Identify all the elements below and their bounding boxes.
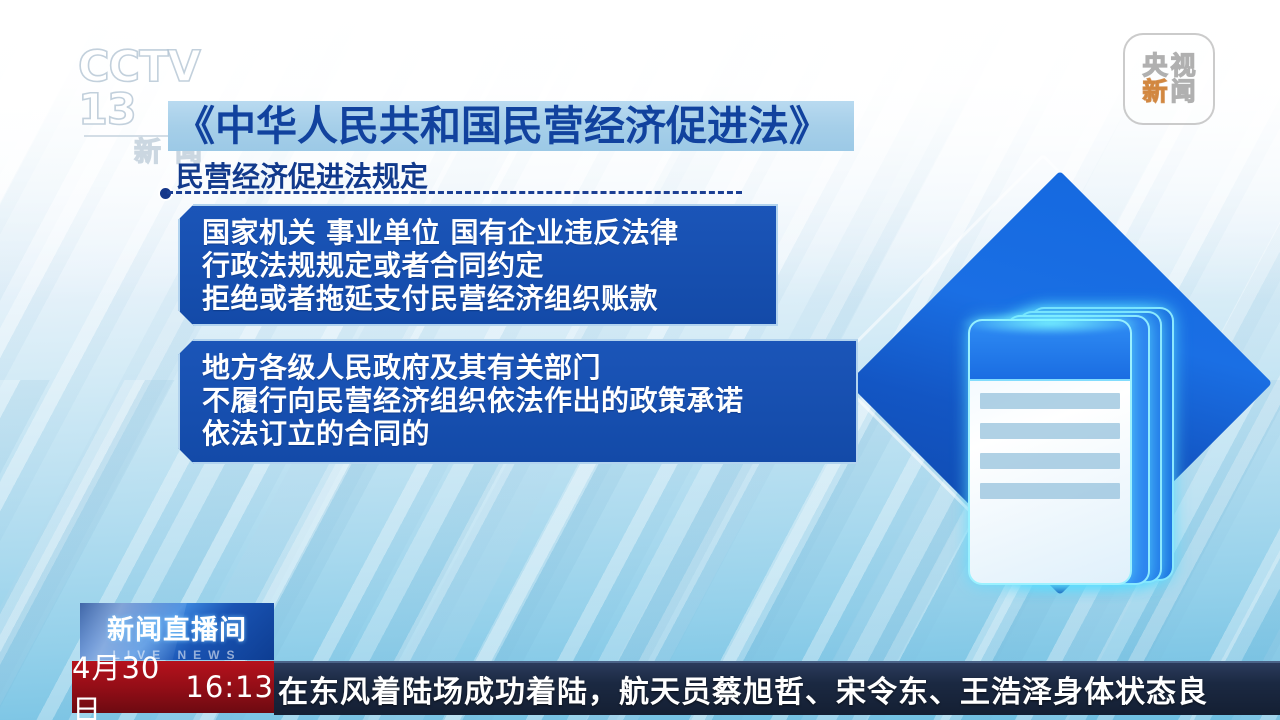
- broadcast-frame: CCTV 13 新闻 央 视 新 闻: [0, 0, 1280, 720]
- statement-block-1: 国家机关 事业单位 国有企业违反法律 行政法规规定或者合同约定 拒绝或者拖延支付…: [178, 204, 778, 326]
- program-name: 新闻直播间: [80, 608, 274, 647]
- document-diamond-graphic: [880, 215, 1280, 645]
- document-line: [980, 423, 1120, 439]
- document-text-lines: [970, 381, 1130, 499]
- news-ticker: 在东风着陆场成功着陆，航天员蔡旭哲、宋令东、王浩泽身体状态良: [274, 661, 1280, 715]
- page-title: 《中华人民共和国民营经济促进法》: [174, 97, 874, 155]
- broadcast-date: 4月30日: [72, 645, 175, 720]
- statement-line: 不履行向民营经济组织依法作出的政策承诺: [202, 384, 840, 417]
- watermark-char-xin: 新: [1142, 80, 1167, 105]
- datetime-bar: 4月30日 16:13: [72, 661, 274, 713]
- statement-line: 地方各级人民政府及其有关部门: [202, 351, 840, 384]
- broadcast-time: 16:13: [185, 670, 274, 704]
- watermark-row-bottom: 新 闻: [1142, 80, 1195, 105]
- statement-line: 国家机关 事业单位 国有企业违反法律: [202, 216, 760, 249]
- watermark-char-yang: 央: [1142, 54, 1167, 79]
- headline-subtitle: 民营经济促进法规定: [176, 160, 428, 194]
- document-page-front: [968, 319, 1132, 585]
- statement-block-2: 地方各级人民政府及其有关部门 不履行向民营经济组织依法作出的政策承诺 依法订立的…: [178, 339, 858, 464]
- watermark-char-shi: 视: [1171, 54, 1196, 79]
- document-line: [980, 453, 1120, 469]
- statement-line: 拒绝或者拖延支付民营经济组织账款: [202, 282, 760, 315]
- document-line: [980, 393, 1120, 409]
- statement-line: 依法订立的合同的: [202, 417, 840, 450]
- document-line: [980, 483, 1120, 499]
- watermark-row-top: 央 视: [1142, 54, 1195, 79]
- watermark-char-wen: 闻: [1171, 80, 1196, 105]
- cctv-news-app-watermark: 央 视 新 闻: [1123, 33, 1215, 125]
- statement-line: 行政法规规定或者合同约定: [202, 249, 760, 282]
- news-ticker-text: 在东风着陆场成功着陆，航天员蔡旭哲、宋令东、王浩泽身体状态良: [278, 667, 1208, 711]
- dashed-divider: [167, 191, 742, 194]
- document-glow: [960, 311, 1140, 335]
